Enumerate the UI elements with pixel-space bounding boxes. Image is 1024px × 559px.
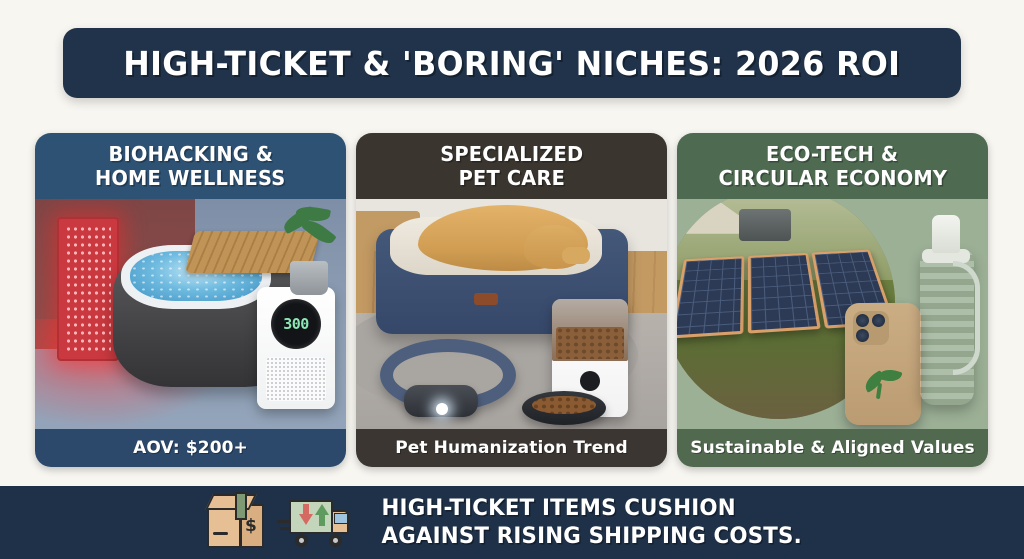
card-pet-care-title-line1: SPECIALIZED [440,143,583,166]
card-pet-care-caption: Pet Humanization Trend [395,438,628,458]
card-eco-tech-header: ECO-TECH & CIRCULAR ECONOMY [677,133,988,199]
card-eco-tech-caption: Sustainable & Aligned Values [690,438,974,458]
golden-retriever-snout [562,247,590,264]
red-light-therapy-panel-icon [57,217,119,361]
card-pet-care-image [356,199,667,429]
page-title-bar: HIGH-TICKET & 'BORING' NICHES: 2026 ROI [63,28,961,98]
purifier-display: 300 [271,299,321,349]
card-pet-care-header: SPECIALIZED PET CARE [356,133,667,199]
niche-cards: BIOHACKING & HOME WELLNESS 300 [35,133,989,467]
air-purifier: 300 [257,287,335,409]
pet-food-bowl [522,391,606,425]
bottom-banner: $ HIGH-TICKET ITEMS CUSHION AGAINST RISI… [0,486,1024,559]
collapsible-water-bottle [916,209,978,405]
card-eco-tech-title-line2: CIRCULAR ECONOMY [718,167,947,190]
cork-phone-case [845,303,921,425]
card-pet-care-title-line2: PET CARE [458,167,564,190]
card-biohacking-caption: AOV: $200+ [133,438,248,458]
card-biohacking[interactable]: BIOHACKING & HOME WELLNESS 300 [35,133,346,467]
card-biohacking-title-line2: HOME WELLNESS [95,167,285,190]
card-eco-tech-image [677,199,988,429]
potted-plant-icon [278,203,340,295]
page-title: HIGH-TICKET & 'BORING' NICHES: 2026 ROI [123,44,900,83]
card-eco-tech[interactable]: ECO-TECH & CIRCULAR ECONOMY [677,133,988,467]
purifier-grille [266,357,326,401]
card-biohacking-title-line1: BIOHACKING & [108,143,272,166]
banner-icon-group: $ [205,492,351,554]
delivery-truck-arrows-icon [277,496,351,550]
card-pet-care-footer: Pet Humanization Trend [356,429,667,467]
feeder-hopper [552,299,628,361]
banner-message: HIGH-TICKET ITEMS CUSHION AGAINST RISING… [375,496,808,550]
pet-bed-brand-tag [474,293,498,305]
leaf-logo-icon [863,365,903,399]
package-box-dollar-icon: $ [205,492,267,554]
infographic-page: HIGH-TICKET & 'BORING' NICHES: 2026 ROI … [0,0,1024,559]
feeder-camera [580,371,600,391]
card-eco-tech-title-line1: ECO-TECH & [766,143,898,166]
card-biohacking-header: BIOHACKING & HOME WELLNESS [35,133,346,199]
card-eco-tech-footer: Sustainable & Aligned Values [677,429,988,467]
portable-power-station [739,209,791,241]
card-pet-care[interactable]: SPECIALIZED PET CARE [356,133,667,467]
bottle-strap [953,261,980,375]
collar-led-light [436,403,448,415]
phone-camera-module [853,311,889,345]
box-dollar-symbol: $ [245,516,257,536]
bottle-cap [932,215,960,253]
card-biohacking-image: 300 [35,199,346,429]
purifier-display-value: 300 [283,315,309,333]
banner-line-2: AGAINST RISING SHIPPING COSTS. [382,524,802,550]
banner-line-1: HIGH-TICKET ITEMS CUSHION [382,496,802,522]
card-biohacking-footer: AOV: $200+ [35,429,346,467]
